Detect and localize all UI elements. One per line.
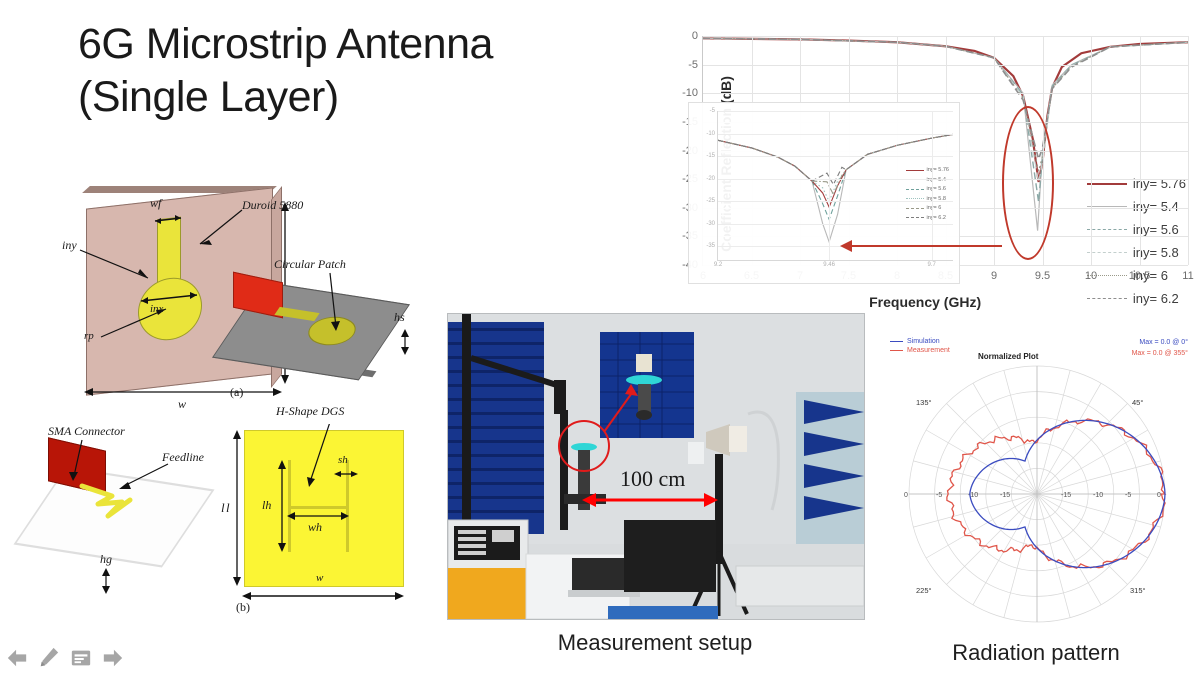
measurement-setup-photo: 100 cm — [447, 313, 865, 620]
label-wf: wf — [150, 196, 161, 211]
label-l-h: l — [226, 500, 230, 516]
inset-legend-swatch — [906, 217, 924, 218]
chart-legend-swatch — [1087, 298, 1127, 299]
chart-x-tick: 9.5 — [1035, 270, 1050, 282]
radiation-pattern-caption: Radiation pattern — [880, 640, 1192, 666]
chart-x-tick: 10.5 — [1129, 270, 1150, 282]
label-w-h: w — [316, 572, 323, 584]
inset-legend-swatch — [906, 170, 924, 171]
polar-radial-label: -15 — [1000, 492, 1010, 499]
polar-radial-label: 0 — [904, 492, 908, 499]
label-rp: rp — [84, 330, 94, 342]
label-l-b: l — [221, 500, 225, 516]
document-icon[interactable] — [70, 647, 92, 669]
inset-y-tick: -20 — [706, 176, 715, 182]
label-hg: hg — [100, 552, 112, 567]
polar-spoke — [1037, 403, 1128, 494]
inset-gridline-h — [718, 201, 953, 202]
title-line-1: 6G Microstrip Antenna — [78, 20, 493, 68]
page-title: 6G Microstrip Antenna (Single Layer) — [78, 18, 638, 124]
chart-legend-item: iny= 5.4 — [1087, 199, 1186, 214]
label-duroid: Duroid 5880 — [242, 198, 303, 213]
inset-gridline-v — [932, 111, 933, 260]
inset-y-tick: -5 — [710, 108, 715, 114]
slide-toolbar[interactable] — [6, 647, 124, 669]
inset-legend-swatch — [906, 208, 924, 209]
inset-legend-item: iny= 5.76 — [906, 167, 949, 173]
photo-scene: 100 cm — [448, 314, 864, 619]
polar-spoke — [946, 403, 1037, 494]
inset-x-tick: 9.2 — [714, 262, 722, 268]
polar-spoke — [1037, 494, 1070, 618]
polar-spoke — [1037, 461, 1161, 494]
inset-legend-label: iny= 6.2 — [927, 215, 946, 221]
chart-gridline-v — [1188, 36, 1189, 265]
chart-inset: iny= 5.76iny= 5.4iny= 5.6iny= 5.8iny= 6i… — [688, 102, 960, 284]
chart-legend: iny= 5.76iny= 5.4iny= 5.6iny= 5.8iny= 6i… — [1087, 176, 1186, 314]
inset-legend-swatch — [906, 198, 924, 199]
polar-spoke — [926, 430, 1037, 494]
pencil-icon[interactable] — [38, 647, 60, 669]
label-inx: inx — [150, 303, 163, 315]
polar-spoke — [973, 383, 1037, 494]
polar-spoke — [1004, 494, 1037, 618]
inset-gridline-h — [718, 246, 953, 247]
inset-gridline-h — [718, 179, 953, 180]
inset-y-tick: -35 — [706, 243, 715, 249]
photo-distance-label: 100 cm — [620, 466, 685, 491]
inset-y-tick: -10 — [706, 131, 715, 137]
label-iny: iny — [62, 238, 77, 253]
inset-legend-label: iny= 5.6 — [927, 186, 946, 192]
resonance-highlight-ellipse — [1002, 106, 1054, 260]
inset-x-tick: 9.7 — [927, 262, 935, 268]
inset-gridline-v — [829, 111, 830, 260]
inset-legend: iny= 5.76iny= 5.4iny= 5.6iny= 5.8iny= 6i… — [906, 167, 949, 224]
label-h-shape-dgs: H-Shape DGS — [276, 404, 344, 419]
label-sma-connector: SMA Connector — [48, 424, 125, 439]
chart-y-tick: 0 — [692, 30, 698, 42]
inset-y-tick: -25 — [706, 198, 715, 204]
label-sh: sh — [338, 454, 348, 466]
label-hs: hs — [394, 310, 405, 325]
polar-spoke — [973, 494, 1037, 605]
label-lh: lh — [262, 498, 271, 513]
inset-gridline-h — [718, 224, 953, 225]
inset-gridline-h — [718, 156, 953, 157]
figure-a-3d-board: Circular Patch hs (a) — [218, 255, 418, 405]
panel-label-a: (a) — [230, 385, 243, 400]
polar-radial-label: -10 — [1093, 492, 1103, 499]
chart-gridline-v — [994, 36, 995, 265]
figure-h-shape-dgs: sh lh wh l w (b) — [232, 424, 412, 616]
polar-grid-and-curves: 0-5-10-15-15-10-50 — [882, 336, 1192, 626]
right-arrow-icon[interactable] — [102, 647, 124, 669]
polar-radial-label: -5 — [1125, 492, 1131, 499]
chart-x-tick: 9 — [991, 270, 997, 282]
polar-radial-label: -5 — [936, 492, 942, 499]
inset-legend-swatch — [906, 189, 924, 190]
chart-legend-swatch — [1087, 252, 1127, 253]
polar-spoke — [1037, 370, 1070, 494]
inset-legend-item: iny= 5.6 — [906, 186, 949, 192]
figure-b-annotations — [18, 420, 238, 610]
chart-legend-item: iny= 5.8 — [1087, 245, 1186, 260]
inset-legend-label: iny= 5.76 — [927, 167, 949, 173]
polar-spoke — [926, 494, 1037, 558]
radiation-pattern-plot: Simulation Measurement Normalized Plot M… — [882, 336, 1192, 626]
label-circular-patch: Circular Patch — [274, 257, 346, 272]
angle-label-225: 225° — [916, 586, 932, 595]
inset-legend-item: iny= 6 — [906, 205, 949, 211]
inset-plot-area: iny= 5.76iny= 5.4iny= 5.6iny= 5.8iny= 6i… — [717, 111, 953, 261]
chart-x-tick: 10 — [1085, 270, 1097, 282]
chart-legend-item: iny= 5.6 — [1087, 222, 1186, 237]
inset-x-tick: 9.46 — [823, 262, 835, 268]
polar-spoke — [1004, 370, 1037, 494]
chart-gridline-v — [1140, 36, 1141, 265]
inset-y-tick: -30 — [706, 221, 715, 227]
chart-legend-label: iny= 6.2 — [1133, 291, 1179, 306]
reflection-coefficient-chart: Coefficient Reflection (dB) Frequency (G… — [636, 14, 1192, 314]
angle-label-45: 45° — [1132, 398, 1143, 407]
polar-spoke — [913, 461, 1037, 494]
inset-gridline-h — [718, 111, 953, 112]
polar-spoke — [1037, 383, 1101, 494]
inset-y-tick: -15 — [706, 153, 715, 159]
figure-b-feed-diagram: SMA Connector Feedline hg l — [18, 420, 238, 610]
chart-legend-item: iny= 6.2 — [1087, 291, 1186, 306]
inset-legend-item: iny= 6.2 — [906, 215, 949, 221]
polar-radial-label: 0 — [1157, 492, 1161, 499]
chart-x-axis-label: Frequency (GHz) — [869, 294, 981, 310]
chart-y-tick: -5 — [688, 59, 698, 71]
label-wh: wh — [308, 520, 322, 535]
polar-spoke — [1037, 494, 1101, 605]
left-arrow-icon[interactable] — [6, 647, 28, 669]
panel-label-b: (b) — [236, 600, 250, 615]
label-feedline: Feedline — [162, 450, 204, 465]
chart-legend-swatch — [1087, 229, 1127, 230]
chart-x-tick: 11 — [1182, 270, 1193, 282]
slide-canvas: 6G Microstrip Antenna (Single Layer) — [0, 0, 1200, 677]
polar-spoke — [1037, 494, 1128, 585]
polar-spoke — [946, 494, 1037, 585]
angle-label-315: 315° — [1130, 586, 1146, 595]
inset-legend-label: iny= 6 — [927, 205, 942, 211]
title-line-2: (Single Layer) — [78, 71, 638, 124]
chart-y-tick: -10 — [682, 87, 698, 99]
polar-radial-label: -15 — [1061, 492, 1071, 499]
angle-label-135: 135° — [916, 398, 932, 407]
figure-a2-annotations — [218, 255, 418, 405]
measurement-setup-caption: Measurement setup — [447, 630, 863, 656]
label-w-a: w — [178, 397, 186, 412]
chart-legend-swatch — [1087, 183, 1127, 185]
inset-gridline-h — [718, 134, 953, 135]
polar-spoke — [1037, 494, 1148, 558]
polar-spoke — [1037, 430, 1148, 494]
chart-gridline-v — [1091, 36, 1092, 265]
